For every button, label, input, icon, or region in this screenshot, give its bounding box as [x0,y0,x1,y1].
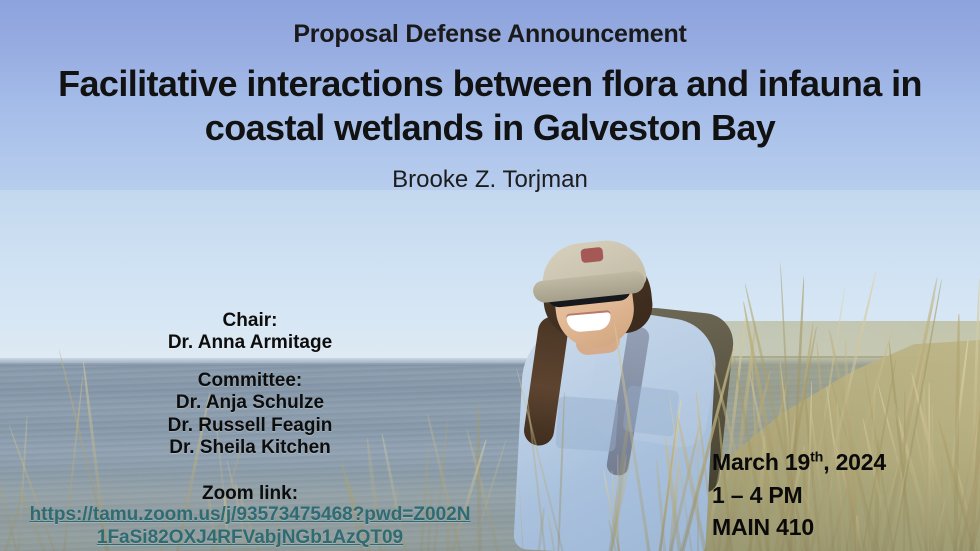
announcement-header: Proposal Defense Announcement [0,20,980,49]
title-line-2: coastal wetlands in Galveston Bay [30,106,950,150]
zoom-link-url[interactable]: https://tamu.zoom.us/j/93573475468?pwd=Z… [10,503,490,549]
date-ordinal: th [810,449,823,465]
chair-name: Dr. Anna Armitage [85,332,415,354]
zoom-url-line-2[interactable]: 1FaSi82OXJ4RFVabjNGb1AzQT09 [10,526,490,549]
committee-block: Chair: Dr. Anna Armitage Committee: Dr. … [85,310,415,459]
page-title: Facilitative interactions between flora … [30,62,950,150]
title-line-1: Facilitative interactions between flora … [30,62,950,106]
committee-member: Dr. Sheila Kitchen [85,437,415,459]
author-name: Brooke Z. Torjman [0,166,980,194]
committee-member: Dr. Russell Feagin [85,415,415,437]
committee-label: Committee: [85,370,415,392]
proposal-defense-poster: Proposal Defense Announcement Facilitati… [0,0,980,551]
event-room: MAIN 410 [712,511,962,544]
zoom-url-line-1[interactable]: https://tamu.zoom.us/j/93573475468?pwd=Z… [10,503,490,526]
spacer [85,355,415,370]
event-details: March 19th, 2024 1 – 4 PM MAIN 410 [712,446,962,544]
date-suffix: , 2024 [823,449,886,475]
event-time: 1 – 4 PM [712,479,962,512]
committee-member: Dr. Anja Schulze [85,392,415,414]
event-date: March 19th, 2024 [712,446,962,479]
chair-label: Chair: [85,310,415,332]
date-prefix: March 19 [712,449,810,475]
zoom-link-label: Zoom link: [85,483,415,505]
